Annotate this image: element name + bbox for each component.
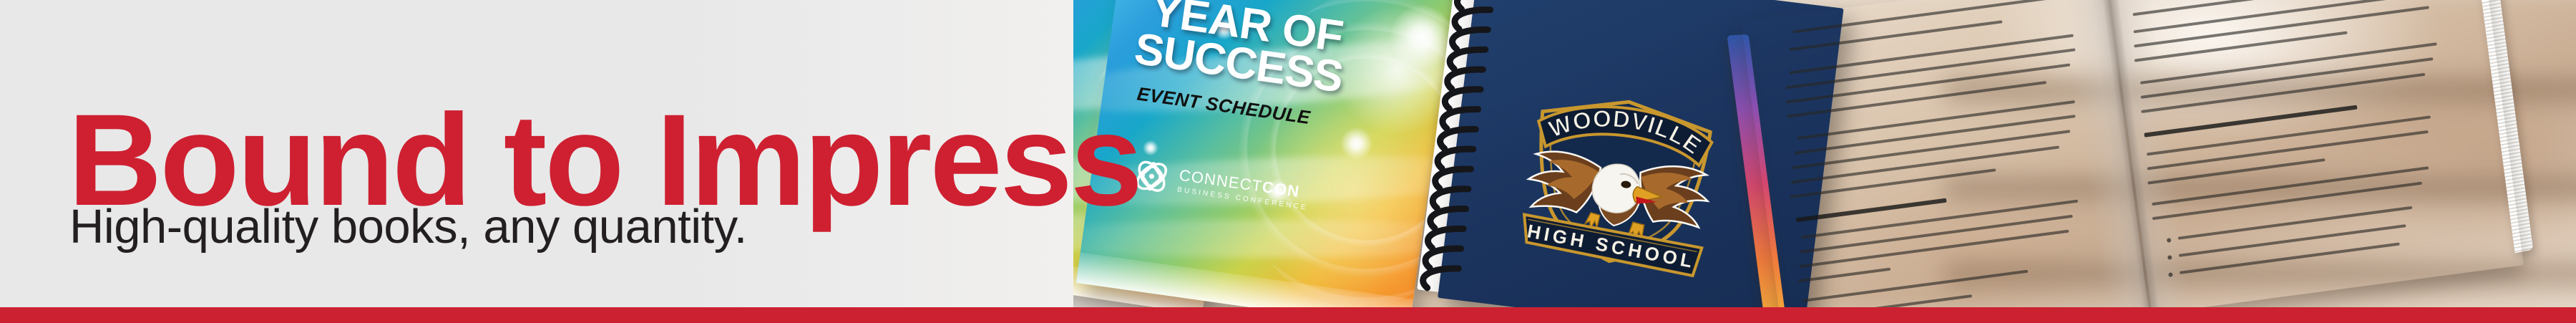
page-text-block	[1741, 0, 2149, 307]
book-page-right	[2107, 0, 2524, 307]
bottom-accent-bar	[0, 307, 2576, 323]
promo-banner: Y S EV	[0, 0, 2576, 323]
woodville-high-school-crest: WOODVILLE	[1502, 77, 1737, 281]
page-text-block	[2107, 0, 2524, 307]
page-subtitle: High-quality books, any quantity.	[69, 203, 747, 251]
headline-panel: Bound to Impress High-quality books, any…	[0, 0, 1073, 307]
product-photo-composite: Y S EV	[916, 0, 2576, 307]
book-page-left	[1741, 0, 2149, 307]
open-book	[1741, 0, 2524, 307]
